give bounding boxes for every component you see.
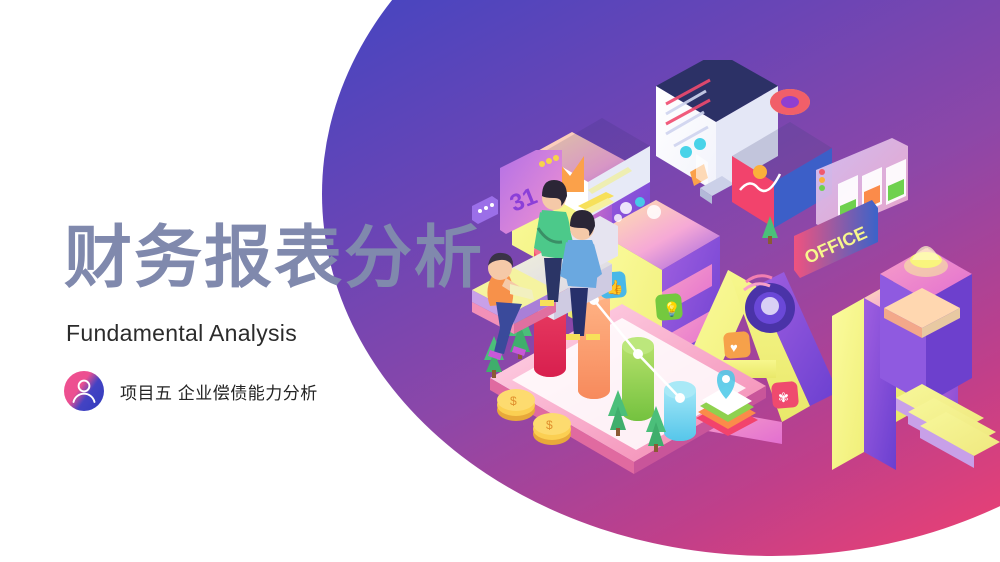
svg-text:♥: ♥ bbox=[730, 340, 738, 355]
people-scene: 31 bbox=[470, 150, 700, 410]
desk-lamp-icon bbox=[904, 246, 948, 277]
user-avatar-icon bbox=[64, 371, 104, 411]
svg-text:✾: ✾ bbox=[778, 390, 789, 405]
page-subtitle: Fundamental Analysis bbox=[66, 320, 494, 347]
page-title: 财务报表分析 bbox=[64, 222, 494, 294]
title-block: 财务报表分析 Fundamental Analysis 项目五 企业偿债能力分析 bbox=[64, 222, 494, 411]
svg-text:$: $ bbox=[546, 418, 553, 432]
donut-chart bbox=[770, 89, 810, 115]
project-row: 项目五 企业偿债能力分析 bbox=[64, 371, 494, 411]
project-label: 项目五 企业偿债能力分析 bbox=[120, 379, 318, 404]
app-icon-heart: ♥ bbox=[723, 331, 751, 359]
presentation-slide: OFFICE bbox=[0, 0, 1000, 562]
app-icon-settings: ✾ bbox=[771, 381, 799, 409]
